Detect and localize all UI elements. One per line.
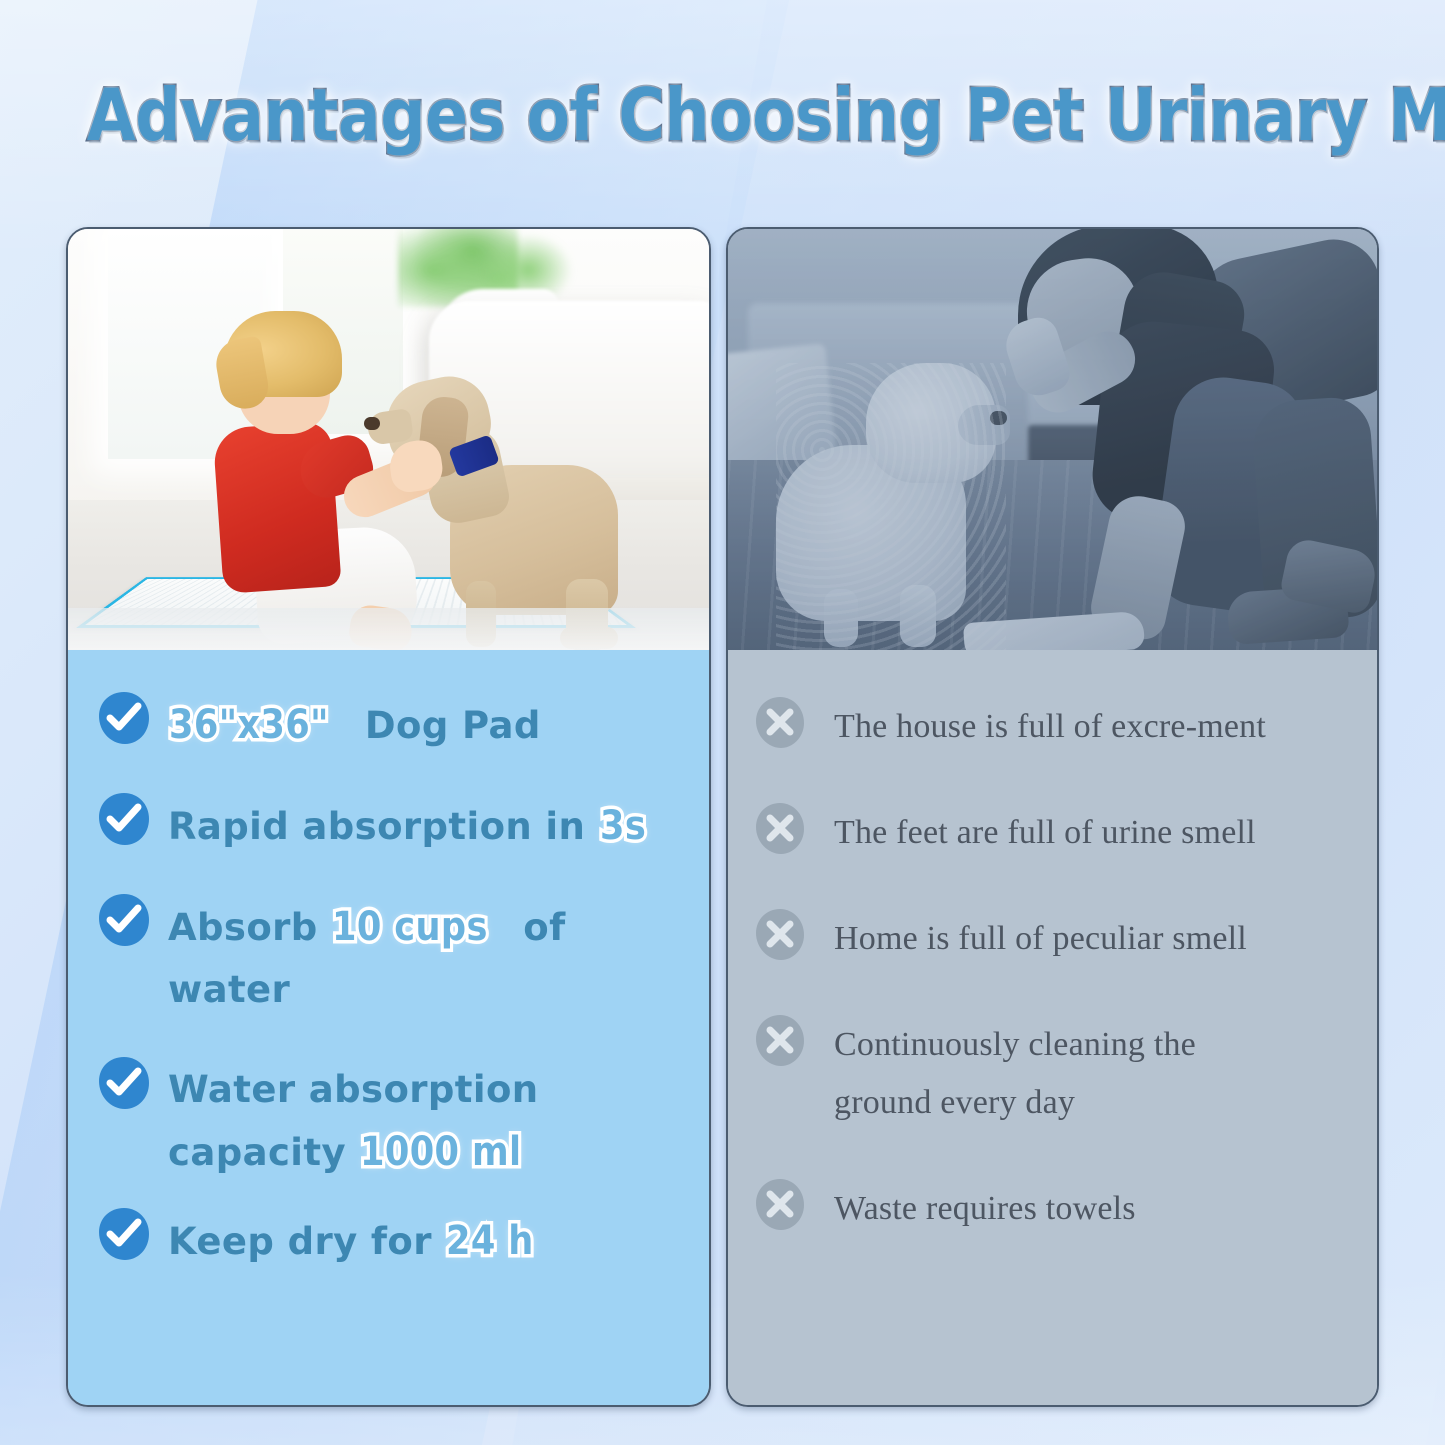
disadvantage-text: Home is full of peculiar smell xyxy=(834,906,1351,968)
cross-circle-icon xyxy=(752,1176,808,1232)
disadvantages-list: The house is full of excre-ment The feet… xyxy=(728,650,1377,1407)
advantage-item: Keep dry for 24 h xyxy=(96,1206,683,1273)
advantage-plain: Absorb xyxy=(168,906,331,949)
page-title: Advantages of Choosing Pet Urinary Mats xyxy=(87,72,1359,158)
advantage-text: Absorb 10 cups of water xyxy=(168,892,683,1021)
advantage-highlight: 24 h xyxy=(446,1210,534,1272)
disadvantages-panel: The house is full of excre-ment The feet… xyxy=(726,227,1379,1407)
advantage-item: Rapid absorption in 3s xyxy=(96,791,683,858)
advantage-item: 36"x36" Dog Pad xyxy=(96,690,683,757)
disadvantage-line: Home is full of peculiar smell xyxy=(834,910,1351,968)
disadvantage-line: The house is full of excre-ment xyxy=(834,698,1351,756)
photo-desaturation-overlay xyxy=(728,229,1377,650)
advantage-highlight: 3s xyxy=(600,795,646,857)
infographic-root: Advantages of Choosing Pet Urinary Mats xyxy=(0,0,1445,1445)
cross-circle-icon xyxy=(752,906,808,962)
advantage-plain: Rapid absorption in xyxy=(168,805,599,848)
check-circle-icon xyxy=(96,1206,152,1262)
advantage-plain: capacity xyxy=(168,1131,359,1174)
disadvantage-line: The feet are full of urine smell xyxy=(834,804,1351,862)
advantage-text: Water absorption capacity 1000 ml xyxy=(168,1055,683,1184)
disadvantage-item: The feet are full of urine smell xyxy=(752,800,1351,862)
advantage-text: Keep dry for 24 h xyxy=(168,1206,683,1273)
check-circle-icon xyxy=(96,892,152,948)
disadvantage-text: The feet are full of urine smell xyxy=(834,800,1351,862)
advantage-plain: Dog Pad xyxy=(352,704,541,747)
advantage-item: Absorb 10 cups of water xyxy=(96,892,683,1021)
disadvantage-line: Continuously cleaning the xyxy=(834,1016,1351,1074)
cross-circle-icon xyxy=(752,800,808,856)
disadvantage-text: Waste requires towels xyxy=(834,1176,1351,1238)
woman-cleaning-photo xyxy=(728,229,1377,650)
check-circle-icon xyxy=(96,690,152,746)
disadvantage-item: Continuously cleaning the ground every d… xyxy=(752,1012,1351,1132)
disadvantage-text: The house is full of excre-ment xyxy=(834,694,1351,756)
cross-circle-icon xyxy=(752,694,808,750)
disadvantage-text: Continuously cleaning the ground every d… xyxy=(834,1012,1351,1132)
disadvantage-line: ground every day xyxy=(834,1074,1351,1132)
puppy-nose xyxy=(364,417,380,430)
advantage-highlight: 36"x36" xyxy=(169,694,329,756)
disadvantage-item: The house is full of excre-ment xyxy=(752,694,1351,756)
advantage-plain: Water absorption xyxy=(168,1068,539,1111)
advantage-text: Rapid absorption in 3s xyxy=(168,791,683,858)
advantage-text: 36"x36" Dog Pad xyxy=(168,690,683,757)
photo-floor-reflection xyxy=(68,608,709,650)
check-circle-icon xyxy=(96,1055,152,1111)
advantage-highlight: 1000 ml xyxy=(360,1121,521,1183)
advantage-highlight: 10 cups xyxy=(332,896,488,958)
advantages-panel: 36"x36" Dog Pad Rapid absorption in 3s A… xyxy=(66,227,711,1407)
disadvantage-line: Waste requires towels xyxy=(834,1180,1351,1238)
advantage-plain: Keep dry for xyxy=(168,1220,445,1263)
disadvantage-item: Home is full of peculiar smell xyxy=(752,906,1351,968)
check-circle-icon xyxy=(96,791,152,847)
disadvantage-item: Waste requires towels xyxy=(752,1176,1351,1238)
advantages-list: 36"x36" Dog Pad Rapid absorption in 3s A… xyxy=(68,650,709,1407)
cross-circle-icon xyxy=(752,1012,808,1068)
boy-and-puppy-photo xyxy=(68,229,709,650)
advantage-item: Water absorption capacity 1000 ml xyxy=(96,1055,683,1184)
